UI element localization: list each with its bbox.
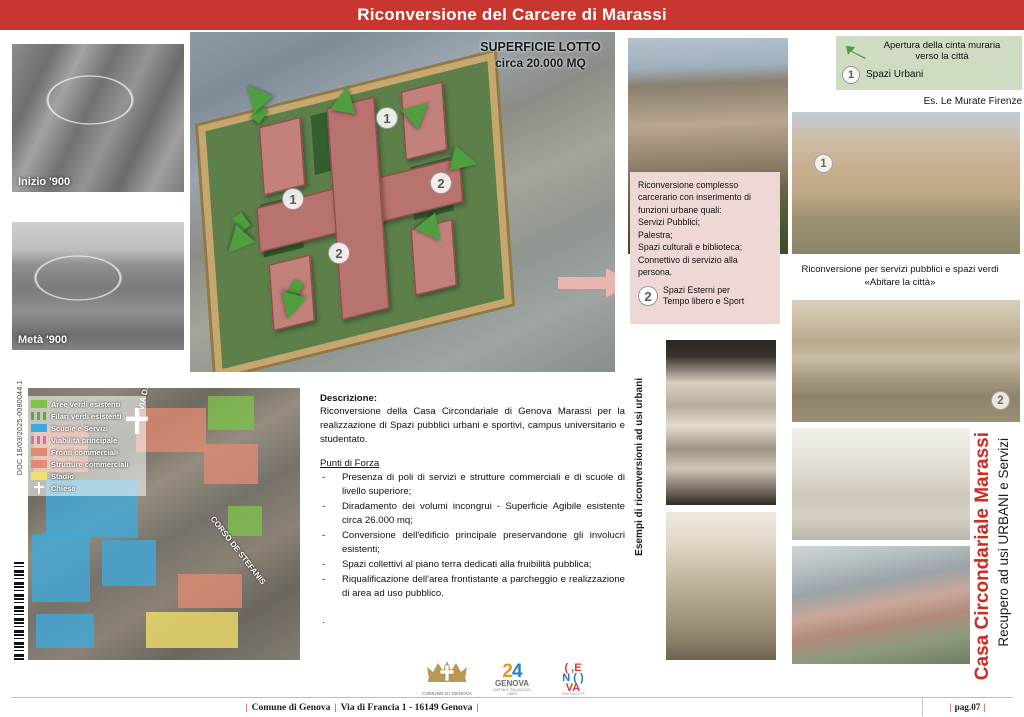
- description-trailing-dot: .: [320, 615, 625, 626]
- church-cross-icon-1: [124, 408, 150, 434]
- footer-logos: COMUNE DI GENOVA 24 GENOVA CAPITALE ITAL…: [408, 660, 608, 696]
- historic-photo-early-1900s: Inizio '900: [12, 44, 184, 192]
- map-area-green-1: [208, 396, 254, 430]
- pink-callout-label-line1: Spazi Esterni per: [663, 285, 744, 296]
- legend-swatch-filari-verdi: [31, 412, 47, 420]
- pink-callout-marker-row: 2 Spazi Esterni per Tempo libero e Sport: [638, 285, 773, 308]
- footer-bar: | Comune di Genova | Via di Francia 1 - …: [12, 697, 1012, 715]
- legend-swatch-viabilita: [31, 436, 47, 444]
- legend-swatch-stadio: [31, 472, 47, 480]
- side-title-red: Casa Circondariale Marassi: [972, 432, 994, 680]
- green-legend-line2: verso la città: [868, 51, 1016, 62]
- city-context-map: VIA D... CORSO DE STEFANIS Aree verdi es…: [28, 388, 300, 660]
- green-arrow-n: [330, 84, 360, 114]
- cross-icon: [33, 482, 45, 494]
- prison-wing-nw: [259, 117, 306, 196]
- legend-swatch-aree-verdi: [31, 400, 47, 408]
- aerial-marker-1b: 1: [282, 188, 304, 210]
- legend-label-filari-verdi: Filari verdi esistenti: [51, 412, 121, 421]
- aerial-marker-2a: 2: [430, 172, 452, 194]
- photo-interior-corridor-vaulted: [666, 340, 776, 505]
- logo24-tagline: CAPITALE ITALIANA DEL LIBRO: [488, 688, 536, 696]
- description-subheading: Punti di Forza: [320, 458, 625, 469]
- riconversione-caption-line1: Riconversione per servizi pubblici e spa…: [778, 264, 1022, 277]
- green-arrow-icon: [844, 44, 868, 60]
- footer-sep-3: |: [476, 702, 478, 713]
- page-title: Riconversione del Carcere di Marassi: [357, 5, 667, 25]
- logo24-numbers: 24: [488, 663, 536, 680]
- photo-interior-corridor-arches: [666, 512, 776, 660]
- description-bullet: Diradamento dei volumi incongrui - Super…: [320, 500, 625, 528]
- legend-swatch-chiese: [31, 484, 47, 492]
- pink-transition-arrow: [558, 268, 615, 298]
- riconversione-caption-line2: «Abitare la città»: [778, 277, 1022, 290]
- legend-swatch-strutture: [31, 460, 47, 468]
- document-code: DOC 18/03/2025-0080044.1: [17, 380, 24, 475]
- crown-crest-icon: [424, 657, 470, 685]
- footer-sep-2: |: [334, 702, 336, 713]
- lot-area-annotation: SUPERFICIE LOTTO circa 20.000 MQ: [468, 40, 613, 71]
- pink-callout-box: Riconversione complesso carcerario con i…: [630, 172, 780, 324]
- header-banner: Riconversione del Carcere di Marassi: [0, 0, 1024, 30]
- map-legend-item: Chiese: [31, 482, 143, 494]
- photo-le-murate-courtyard: 1: [792, 112, 1020, 254]
- logo-comune-di-genova: COMUNE DI GENOVA: [420, 657, 474, 696]
- aerial-marker-2b: 2: [328, 242, 350, 264]
- description-bullet: Spazi collettivi al piano terra dedicati…: [320, 558, 625, 572]
- green-legend-row: 1 Spazi Urbani: [842, 66, 1016, 84]
- map-area-commercial-3: [204, 444, 258, 484]
- map-legend-item: Fronti commerciali: [31, 446, 143, 458]
- historic-photo-2-caption: Metà '900: [18, 334, 67, 346]
- page-label: pag.07: [955, 702, 981, 712]
- photo-murate-square-people: 2: [792, 300, 1020, 422]
- legend-swatch-scuole: [31, 424, 47, 432]
- page-sep-2: |: [983, 702, 985, 712]
- page-sep-1: |: [950, 702, 952, 712]
- pink-callout-label: Spazi Esterni per Tempo libero e Sport: [663, 285, 744, 308]
- description-bullet: Conversione dell'edificio principale pre…: [320, 529, 625, 557]
- description-body: Riconversione della Casa Circondariale d…: [320, 405, 625, 447]
- es-murate-caption: Es. Le Murate Firenze: [836, 96, 1022, 107]
- green-legend-label: Spazi Urbani: [866, 69, 923, 80]
- footer-street: Via di Francia 1 - 16149 Genova: [341, 702, 473, 713]
- legend-label-chiese: Chiese: [51, 484, 76, 493]
- legend-label-fronti: Fronti commerciali: [51, 448, 118, 457]
- lot-area-line2: circa 20.000 MQ: [468, 56, 613, 71]
- historic-photo-1-caption: Inizio '900: [18, 176, 70, 188]
- document-barcode: [14, 562, 24, 660]
- aerial-3d-render: SUPERFICIE LOTTO circa 20.000 MQ 1 1 2 2: [190, 32, 615, 372]
- pink-callout-paragraph: Riconversione complesso carcerario con i…: [638, 179, 773, 279]
- green-legend-line1: Apertura della cinta muraria: [868, 40, 1016, 51]
- logo-genova-tiny: GENOVA CITTÀ: [550, 693, 596, 696]
- description-bullet-list: Presenza di poli di servizi e strutture …: [320, 471, 625, 601]
- photo-vaulted-interior-white: [792, 428, 970, 540]
- legend-label-stadio: Stadio: [51, 472, 74, 481]
- description-bullet: Riqualificazione dell'area frontistante …: [320, 573, 625, 601]
- side-title-black: Recupero ad usi URBANI e Servizi: [996, 438, 1011, 647]
- footer-org: Comune di Genova: [252, 702, 331, 713]
- description-bullet: Presenza di poli di servizi e strutture …: [320, 471, 625, 499]
- map-legend-item: Viabilità principale: [31, 434, 143, 446]
- footer-sep-1: |: [245, 702, 247, 713]
- lot-area-line1: SUPERFICIE LOTTO: [468, 40, 613, 56]
- footer-address: | Comune di Genova | Via di Francia 1 - …: [12, 698, 712, 716]
- legend-swatch-fronti: [31, 448, 47, 456]
- legend-label-viabilita: Viabilità principale: [51, 436, 117, 445]
- riconversione-caption: Riconversione per servizi pubblici e spa…: [778, 264, 1022, 290]
- legend-label-strutture: Strutture commerciali: [51, 460, 129, 469]
- green-legend-marker: 1: [842, 66, 860, 84]
- photo-garden-gallery: [792, 546, 970, 664]
- map-area-stadium: [146, 612, 238, 648]
- logo24-name: GENOVA: [488, 680, 536, 688]
- photo-marker-1: 1: [814, 154, 833, 173]
- map-area-green-2: [228, 506, 262, 536]
- map-legend-item: Stadio: [31, 470, 143, 482]
- logo-comune-caption: COMUNE DI GENOVA: [420, 691, 474, 696]
- footer-page-number: | pag.07 |: [922, 698, 1012, 716]
- description-block: Descrizione: Riconversione della Casa Ci…: [320, 393, 625, 626]
- photo-marker-2: 2: [991, 391, 1010, 410]
- logo-genova-city: ( ,E N ( ) VA GENOVA CITTÀ: [550, 663, 596, 696]
- aerial-marker-1a: 1: [376, 107, 398, 129]
- map-legend-item: Strutture commerciali: [31, 458, 143, 470]
- map-area-school-3: [102, 540, 156, 586]
- label-esempi-riconversioni: Esempi di riconversioni ad usi urbani: [634, 378, 645, 556]
- legend-label-scuole: Scuole e Servizi: [51, 424, 108, 433]
- map-area-school-4: [36, 614, 94, 648]
- map-area-commercial-4: [178, 574, 242, 608]
- logo-24-genova: 24 GENOVA CAPITALE ITALIANA DEL LIBRO: [488, 663, 536, 696]
- description-heading: Descrizione:: [320, 393, 625, 404]
- legend-label-aree-verdi: Aree verdi esistenti: [51, 400, 120, 409]
- historic-photo-mid-1900s: Metà '900: [12, 222, 184, 350]
- map-area-school-2: [32, 534, 90, 602]
- pink-callout-label-line2: Tempo libero e Sport: [663, 296, 744, 307]
- pink-callout-marker: 2: [638, 286, 658, 306]
- prison-wing-vertical: [326, 96, 389, 320]
- green-legend-box: Apertura della cinta muraria verso la ci…: [836, 36, 1022, 90]
